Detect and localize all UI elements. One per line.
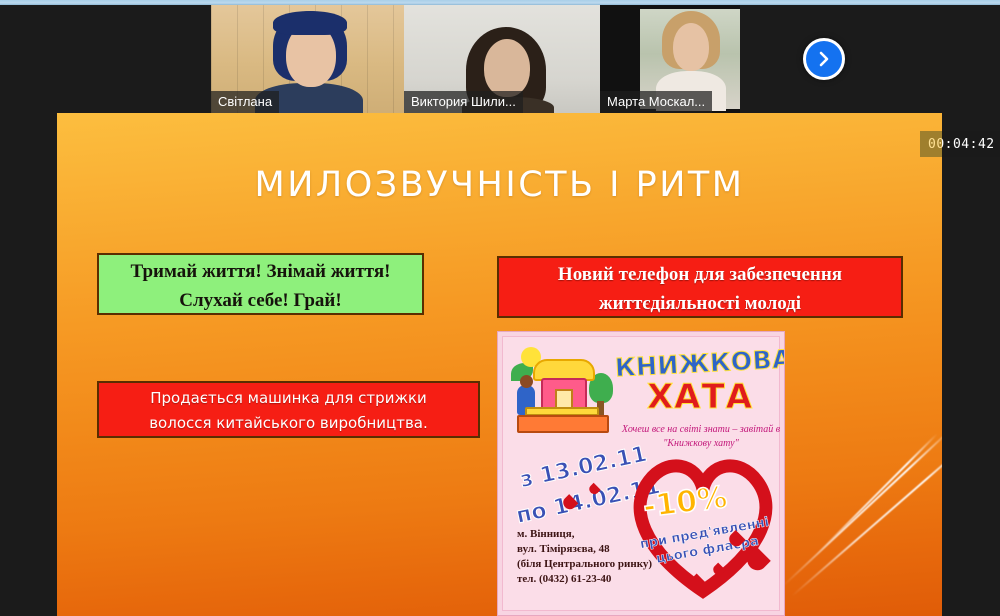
- shared-slide: МИЛОЗВУЧНІСТЬ І РИТМ Тримай життя! Зніма…: [57, 113, 942, 616]
- participant-filmstrip: Світлана Виктория Шили... Марта Москал..…: [0, 5, 1000, 113]
- next-page-button[interactable]: [803, 38, 845, 80]
- slide-box-red-2: Продається машинка для стрижки волосся к…: [97, 381, 480, 438]
- advertisement-brand-line-2: ХАТА: [615, 377, 785, 417]
- slide-box-red-1-line-1: Новий телефон для забезпечення: [499, 260, 901, 289]
- participant-name-1: Світлана: [211, 91, 279, 113]
- chevron-right-icon: [815, 50, 833, 68]
- advertisement-address-line-1: м. Вінниця,: [517, 527, 677, 542]
- advertisement-address: м. Вінниця, вул. Тімірязєва, 48 (біля Це…: [517, 527, 677, 587]
- slide-box-green-line-2: Слухай себе! Грай!: [99, 286, 422, 315]
- participant-tile-1[interactable]: Світлана: [211, 5, 404, 113]
- slide-box-green-line-1: Тримай життя! Знімай життя!: [99, 257, 422, 286]
- participant-tile-2[interactable]: Виктория Шили...: [404, 5, 600, 113]
- decorative-streak-3: [816, 433, 938, 555]
- book-house-illustration-icon: [511, 345, 615, 437]
- slide-box-red-1: Новий телефон для забезпечення життєдіял…: [497, 256, 903, 318]
- participant-name-3: Марта Москал...: [600, 91, 712, 113]
- advertisement-flyer: КНИЖКОВА ХАТА Хочеш все на світі знати –…: [497, 331, 785, 616]
- decorative-streak-2: [791, 439, 942, 597]
- advertisement-address-line-3: (біля Центрального ринку): [517, 557, 677, 572]
- slide-box-red-1-line-2: життєдіяльності молоді: [499, 289, 901, 318]
- slide-title: МИЛОЗВУЧНІСТЬ І РИТМ: [57, 165, 942, 205]
- advertisement-address-line-2: вул. Тімірязєва, 48: [517, 542, 677, 557]
- session-timer-highlight: [920, 131, 942, 157]
- slide-box-red-2-line-1: Продається машинка для стрижки: [99, 386, 478, 411]
- slide-box-green: Тримай життя! Знімай життя! Слухай себе!…: [97, 253, 424, 315]
- participant-tile-3[interactable]: Марта Москал...: [600, 5, 740, 113]
- advertisement-inner-frame: КНИЖКОВА ХАТА Хочеш все на світі знати –…: [502, 336, 780, 611]
- slide-box-red-2-line-2: волосся китайського виробництва.: [99, 411, 478, 436]
- advertisement-address-line-4: тел. (0432) 61-23-40: [517, 572, 677, 587]
- participant-name-2: Виктория Шили...: [404, 91, 523, 113]
